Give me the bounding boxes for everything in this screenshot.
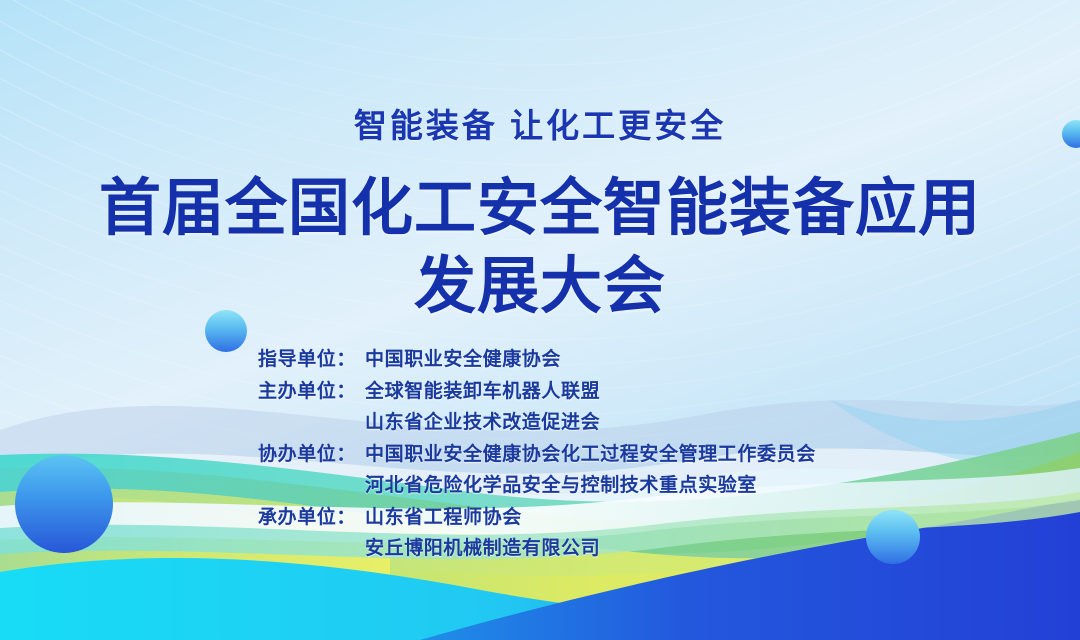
organizations-list: 指导单位： 中国职业安全健康协会 主办单位： 全球智能装卸车机器人联盟 山东省企… — [258, 344, 816, 565]
org-value: 山东省企业技术改造促进会 — [365, 407, 600, 439]
decorative-circle-middle — [866, 510, 920, 564]
list-item: 山东省企业技术改造促进会 — [258, 407, 816, 439]
org-value: 中国职业安全健康协会化工过程安全管理工作委员会 — [365, 439, 816, 471]
list-item: 安丘博阳机械制造有限公司 — [258, 533, 816, 565]
org-label: 指导单位： — [258, 344, 365, 376]
banner-title-line-2: 发展大会 — [0, 248, 1080, 326]
org-value: 山东省工程师协会 — [365, 502, 522, 534]
org-value: 中国职业安全健康协会 — [365, 344, 561, 376]
banner-subtitle: 智能装备 让化工更安全 — [0, 99, 1080, 147]
list-item: 承办单位： 山东省工程师协会 — [258, 502, 816, 534]
org-label: 承办单位： — [258, 502, 365, 534]
list-item: 主办单位： 全球智能装卸车机器人联盟 — [258, 376, 816, 408]
org-label: 协办单位： — [258, 439, 365, 471]
org-value: 全球智能装卸车机器人联盟 — [365, 376, 600, 408]
org-value: 安丘博阳机械制造有限公司 — [365, 533, 600, 565]
list-item: 河北省危险化学品安全与控制技术重点实验室 — [258, 470, 816, 502]
banner-title-line-1: 首届全国化工安全智能装备应用 — [0, 170, 1080, 248]
org-label: 主办单位： — [258, 376, 365, 408]
conference-banner: 智能装备 让化工更安全 首届全国化工安全智能装备应用 发展大会 指导单位： 中国… — [0, 0, 1080, 640]
list-item: 协办单位： 中国职业安全健康协会化工过程安全管理工作委员会 — [258, 439, 816, 471]
org-value: 河北省危险化学品安全与控制技术重点实验室 — [365, 470, 757, 502]
decorative-circle-large — [15, 455, 113, 553]
list-item: 指导单位： 中国职业安全健康协会 — [258, 344, 816, 376]
